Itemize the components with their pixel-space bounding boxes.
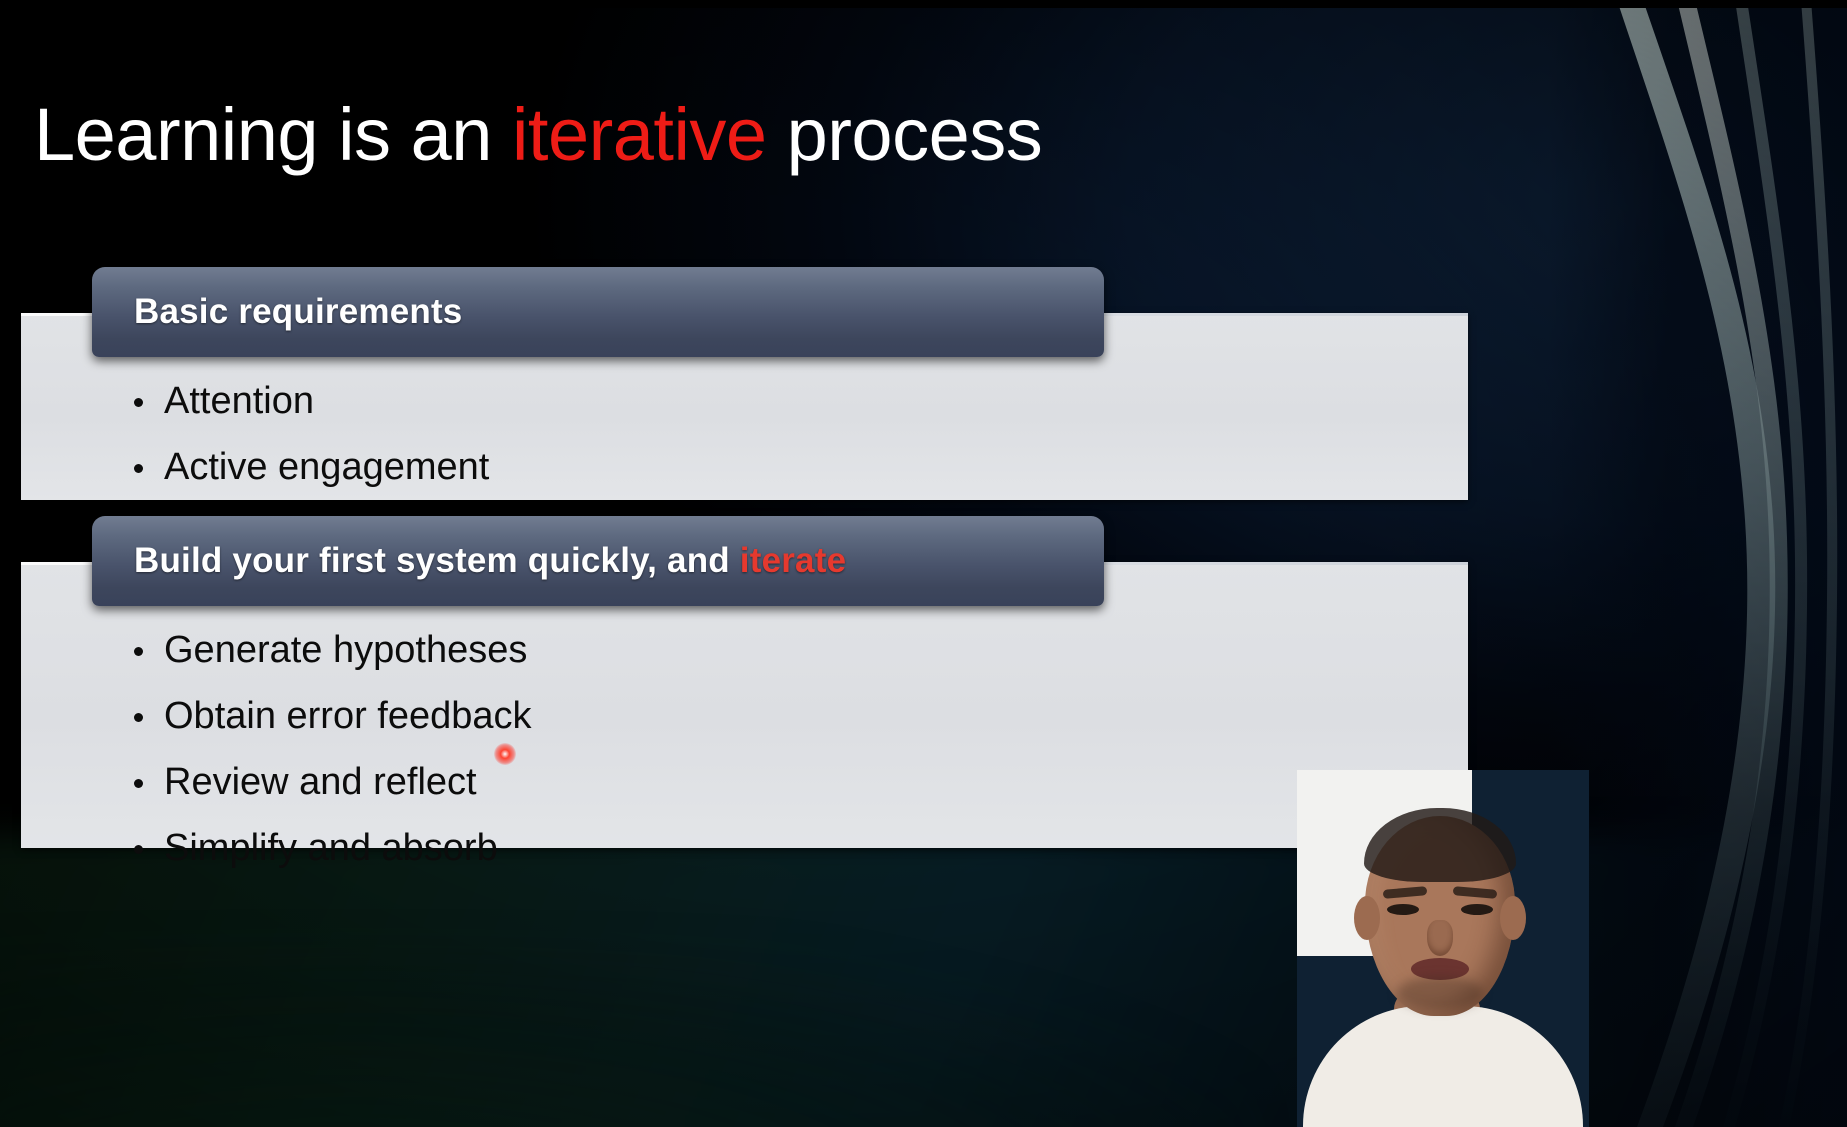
section-header-text: Build your first system quickly, and ite… [134, 541, 846, 581]
section1-header-part-before: Basic requirements [134, 292, 462, 331]
webcam-eyebrow-right [1453, 887, 1498, 900]
bullet-item: Simplify and absorb [130, 822, 532, 874]
webcam-shirt [1303, 1006, 1583, 1127]
bullet-item: Attention [130, 375, 489, 427]
laser-pointer-dot [494, 743, 516, 765]
section-header-build-iterate: Build your first system quickly, and ite… [92, 516, 1104, 606]
webcam-nose [1427, 920, 1453, 956]
bullet-item: Review and reflect [130, 756, 532, 808]
slide-title-accent: iterative [512, 93, 767, 176]
webcam-chin-shadow [1397, 976, 1483, 1010]
bullet-list-basic-requirements: Attention Active engagement [130, 375, 489, 507]
section2-header-part-before: Build your first system quickly, and [134, 541, 740, 580]
bullet-list-build-iterate: Generate hypotheses Obtain error feedbac… [130, 624, 532, 888]
webcam-eyebrow-left [1383, 887, 1428, 900]
slide-title: Learning is an iterative process [34, 98, 1042, 172]
slide-title-part-before: Learning is an [34, 93, 512, 176]
section2-header-accent: iterate [740, 541, 846, 580]
webcam-head [1365, 816, 1515, 1016]
webcam-ear-left [1354, 896, 1380, 940]
slide-title-part-after: process [767, 93, 1043, 176]
bullet-item: Obtain error feedback [130, 690, 532, 742]
webcam-eye-left [1387, 904, 1419, 915]
presentation-slide: Learning is an iterative process Basic r… [0, 0, 1847, 1127]
background-top-strip [0, 0, 1847, 8]
bullet-item: Generate hypotheses [130, 624, 532, 676]
webcam-eye-right [1461, 904, 1493, 915]
presenter-webcam-overlay[interactable] [1297, 770, 1589, 1127]
bullet-item: Active engagement [130, 441, 489, 493]
section-header-text: Basic requirements [134, 292, 462, 332]
webcam-ear-right [1500, 896, 1526, 940]
section-header-basic-requirements: Basic requirements [92, 267, 1104, 357]
